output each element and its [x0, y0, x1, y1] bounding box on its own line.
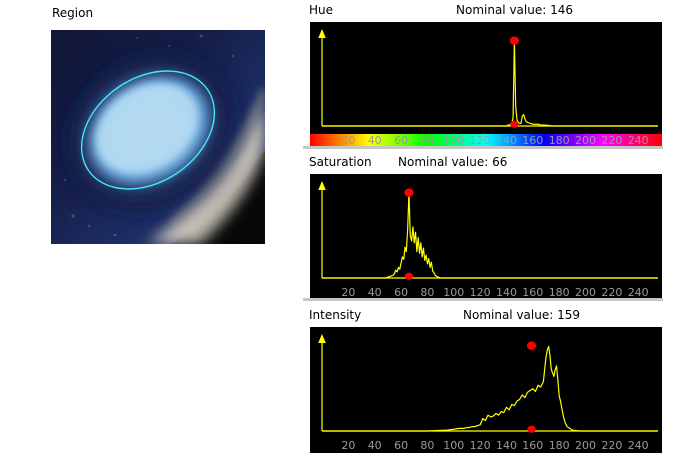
- intensity-histogram-plot[interactable]: [310, 327, 662, 439]
- intensity-histogram-line: [322, 347, 658, 431]
- panel-separator-1: [303, 146, 663, 149]
- intensity-axis: 20406080100120140160180200220240: [310, 439, 662, 453]
- intensity-axis-ticks: 20406080100120140160180200220240: [310, 439, 662, 453]
- intensity-tick-200: 200: [575, 439, 596, 453]
- intensity-tick-160: 160: [522, 439, 543, 453]
- saturation-panel-label: Saturation: [309, 155, 372, 169]
- intensity-panel-label: Intensity: [309, 308, 361, 322]
- intensity-nominal-marker-top[interactable]: [527, 341, 536, 349]
- intensity-tick-120: 120: [470, 439, 491, 453]
- intensity-tick-240: 240: [628, 439, 649, 453]
- intensity-tick-140: 140: [496, 439, 517, 453]
- hue-axis-lines: [318, 29, 658, 126]
- saturation-panel-header: Saturation Nominal value: 66: [303, 152, 663, 174]
- intensity-axis-lines: [318, 334, 658, 431]
- hue-histogram-plot[interactable]: [310, 22, 662, 134]
- hue-nominal-marker-top[interactable]: [510, 36, 519, 44]
- saturation-histogram-svg: [310, 174, 662, 286]
- intensity-tick-180: 180: [549, 439, 570, 453]
- intensity-panel-header: Intensity Nominal value: 159: [303, 305, 663, 327]
- region-image[interactable]: [51, 30, 265, 244]
- intensity-tick-100: 100: [443, 439, 464, 453]
- hue-histogram-line: [322, 41, 658, 126]
- intensity-panel: Intensity Nominal value: 159 20406080100…: [303, 305, 663, 453]
- panel-separator-2: [303, 298, 663, 301]
- hue-nominal-marker-bottom[interactable]: [510, 121, 518, 128]
- hue-nominal-value: Nominal value: 146: [456, 3, 573, 17]
- intensity-tick-220: 220: [601, 439, 622, 453]
- saturation-axis-lines: [318, 181, 658, 278]
- hue-panel-header: Hue Nominal value: 146: [303, 0, 663, 22]
- intensity-tick-40: 40: [368, 439, 382, 453]
- intensity-tick-60: 60: [394, 439, 408, 453]
- saturation-histogram-line: [322, 193, 658, 278]
- hue-panel: Hue Nominal value: 146: [303, 0, 663, 148]
- saturation-nominal-marker-bottom[interactable]: [405, 273, 413, 280]
- saturation-nominal-value: Nominal value: 66: [398, 155, 507, 169]
- intensity-tick-80: 80: [420, 439, 434, 453]
- hue-panel-label: Hue: [309, 3, 333, 17]
- intensity-nominal-marker-bottom[interactable]: [527, 426, 535, 433]
- intensity-histogram-svg: [310, 327, 662, 439]
- saturation-nominal-marker-top[interactable]: [404, 188, 413, 196]
- region-image-canvas: [51, 30, 265, 244]
- saturation-panel: Saturation Nominal value: 66 20406080100…: [303, 152, 663, 300]
- region-title: Region: [52, 6, 93, 20]
- intensity-tick-20: 20: [341, 439, 355, 453]
- intensity-nominal-value: Nominal value: 159: [463, 308, 580, 322]
- hue-histogram-svg: [310, 22, 662, 134]
- saturation-histogram-plot[interactable]: [310, 174, 662, 286]
